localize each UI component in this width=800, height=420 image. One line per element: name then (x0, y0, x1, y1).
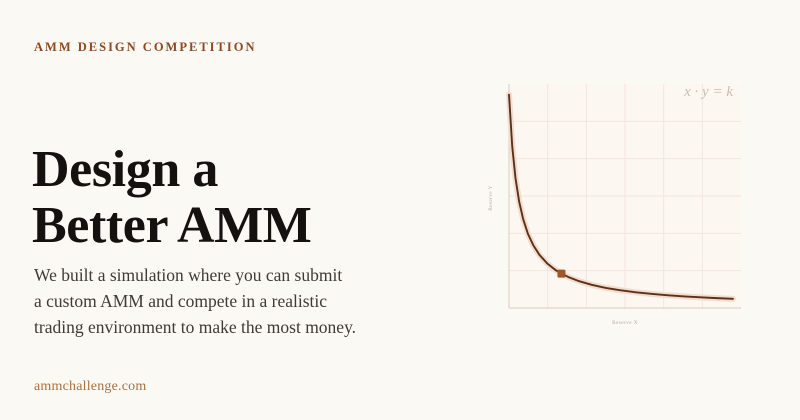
y-axis-label: Reserve Y (488, 185, 494, 211)
headline-line-1: Design a (32, 142, 311, 198)
subcopy-line-1: We built a simulation where you can subm… (34, 262, 356, 288)
eyebrow-label: AMM Design Competition (34, 40, 256, 55)
subcopy-line-2: a custom AMM and compete in a realistic (34, 288, 356, 314)
page-title: Design a Better AMM (32, 142, 311, 254)
headline-line-2: Better AMM (32, 198, 311, 254)
subcopy-line-3: trading environment to make the most mon… (34, 314, 356, 340)
hero-graphic: AMM Design Competition Design a Better A… (0, 0, 800, 420)
chart-svg: x · y = k Reserve X Reserve Y (470, 56, 780, 346)
hero-subcopy: We built a simulation where you can subm… (34, 262, 356, 340)
equation-annotation: x · y = k (683, 84, 733, 100)
hero-text-column: AMM Design Competition Design a Better A… (34, 0, 454, 420)
curve-marker-point[interactable] (557, 270, 565, 278)
x-axis-label: Reserve X (612, 320, 638, 326)
website-url-link[interactable]: ammchallenge.com (34, 379, 146, 395)
amm-curve-chart: x · y = k Reserve X Reserve Y (470, 56, 780, 346)
